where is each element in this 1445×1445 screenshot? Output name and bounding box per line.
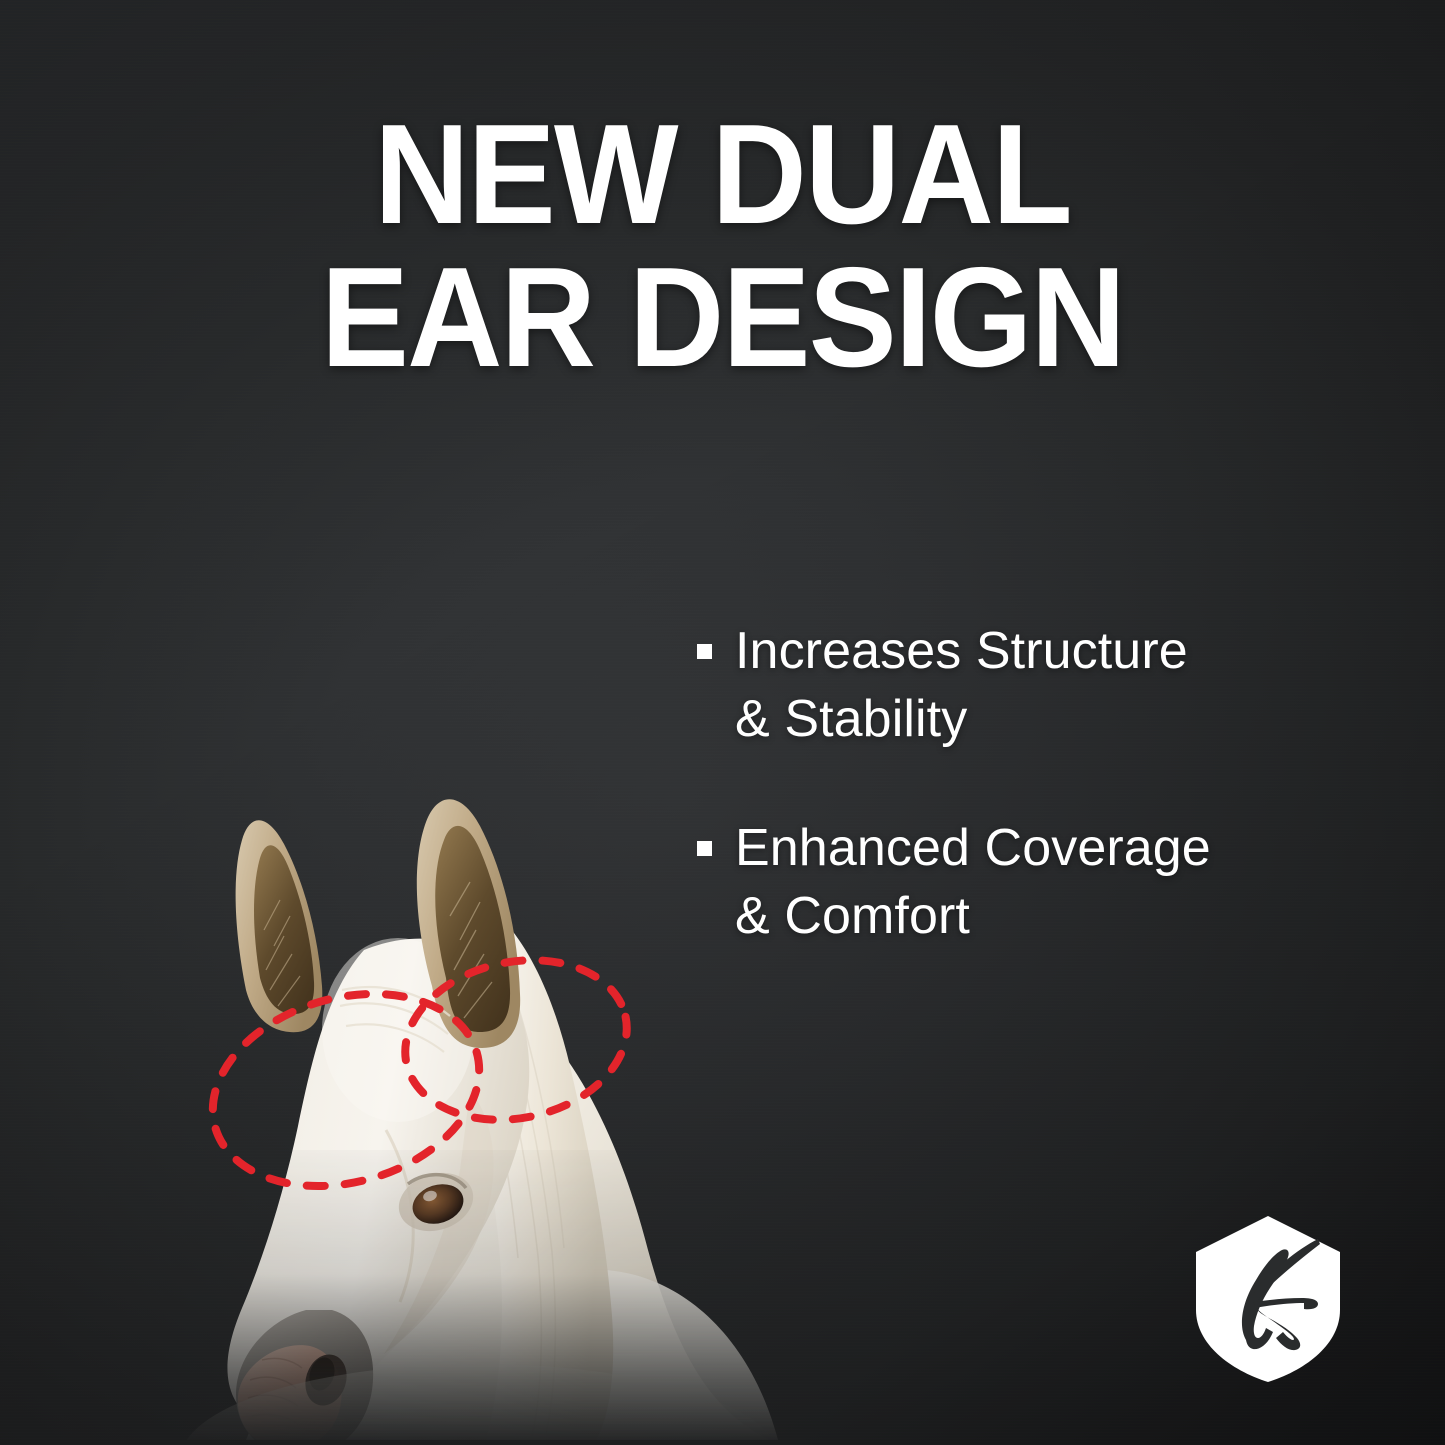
feature-2-line-2: & Comfort xyxy=(735,887,970,945)
horse-ear-left xyxy=(236,820,323,1032)
headline-line-2: EAR DESIGN xyxy=(51,251,1395,386)
feature-2-line-1: Enhanced Coverage xyxy=(735,819,1211,877)
brand-logo xyxy=(1194,1214,1342,1384)
feature-list: Increases Structure & Stability Enhanced… xyxy=(697,618,1377,1012)
bullet-square-icon xyxy=(697,841,712,856)
page-title: NEW DUAL EAR DESIGN xyxy=(51,108,1395,386)
horse-photo xyxy=(150,430,790,1440)
feature-1-line-2: & Stability xyxy=(735,690,967,748)
headline-line-1: NEW DUAL xyxy=(51,108,1395,243)
ad-canvas: NEW DUAL EAR DESIGN xyxy=(0,0,1445,1445)
feature-text: Enhanced Coverage & Comfort xyxy=(735,815,1211,950)
list-item: Enhanced Coverage & Comfort xyxy=(697,815,1377,950)
feature-1-line-1: Increases Structure xyxy=(735,622,1188,680)
list-item: Increases Structure & Stability xyxy=(697,618,1377,753)
bullet-square-icon xyxy=(697,644,712,659)
feature-text: Increases Structure & Stability xyxy=(735,618,1188,753)
